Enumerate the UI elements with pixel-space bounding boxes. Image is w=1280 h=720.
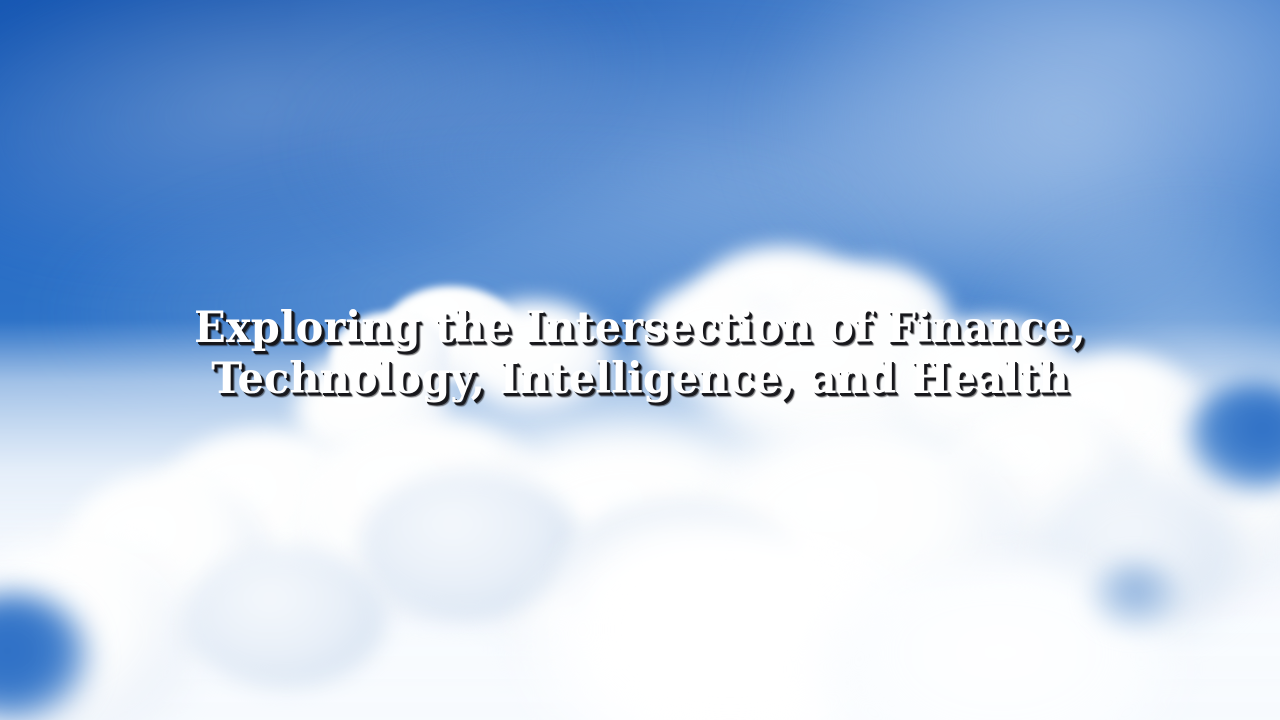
- sky-gap-bottom-left: [0, 592, 90, 720]
- cloud-puff-shaded: [560, 500, 800, 650]
- cloud-puff-shaded: [360, 470, 580, 620]
- cloud-puff: [700, 420, 1030, 670]
- hero-title-container: Exploring the Intersection of Finance, T…: [0, 303, 1280, 405]
- cloud-puff: [0, 540, 190, 720]
- cloud-puff: [150, 430, 380, 610]
- cloud-puff: [470, 430, 790, 670]
- hero-banner: Exploring the Intersection of Finance, T…: [0, 0, 1280, 720]
- cloud-puff-shaded: [1040, 470, 1240, 630]
- cloud-bright-core: [820, 560, 1180, 720]
- sky-haze-veil: [760, 0, 1280, 330]
- cloud-puff-shaded: [186, 548, 386, 688]
- cloud-puff: [300, 418, 560, 618]
- page-title: Exploring the Intersection of Finance, T…: [148, 303, 1132, 405]
- cloud-puff: [60, 472, 270, 652]
- cloud-puff: [940, 404, 1140, 564]
- cloud-puff: [1120, 400, 1280, 590]
- sky-haze-veil: [0, 0, 659, 321]
- sky-gap-mid-right: [1090, 560, 1180, 630]
- cloud-bright-core: [520, 520, 940, 720]
